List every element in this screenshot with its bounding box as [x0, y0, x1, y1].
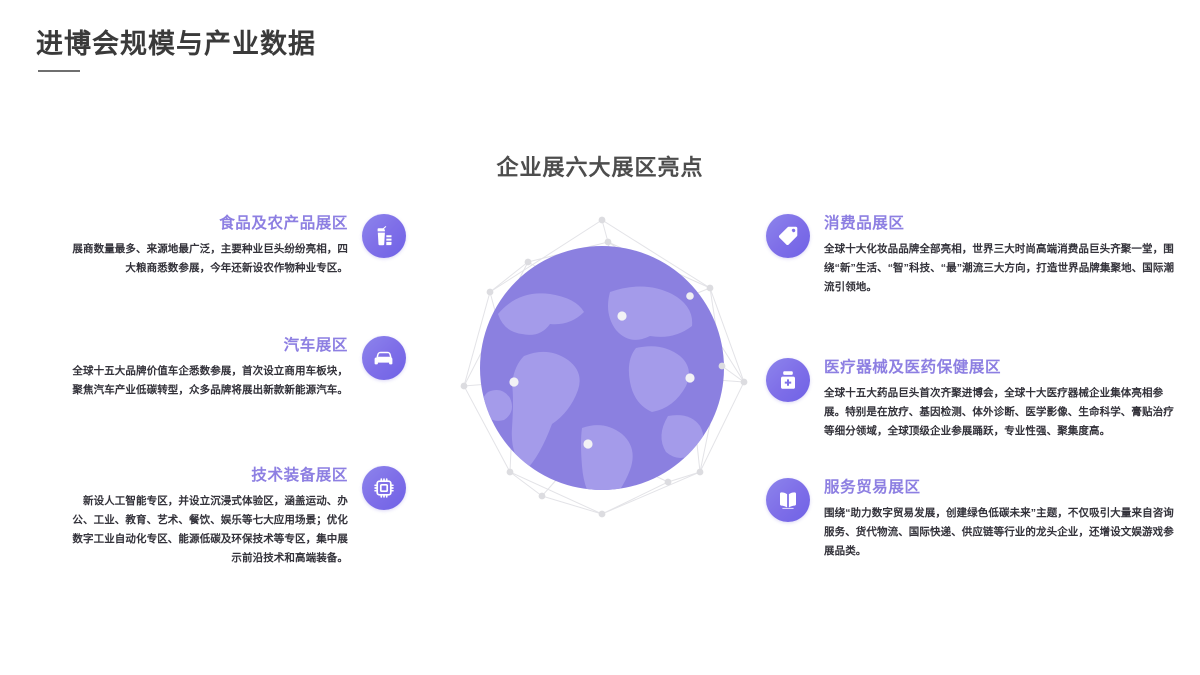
zone-card-title: 消费品展区 — [824, 214, 905, 234]
section-subtitle: 企业展六大展区亮点 — [0, 150, 1200, 182]
zone-card-body: 技术装备展区 新设人工智能专区，并设立沉浸式体验区，涵盖运动、办公、工业、教育、… — [70, 466, 348, 569]
medicine-bottle-icon[interactable] — [766, 358, 810, 402]
zone-card-title: 服务贸易展区 — [824, 478, 921, 498]
zone-card-text: 全球十五大品牌价值车企悉数参展，首次设立商用车板块，聚焦汽车产业低碳转型，众多品… — [70, 362, 348, 400]
zone-card-body: 服务贸易展区 围绕“助力数字贸易发展，创建绿色低碳未来”主题，不仅吸引大量来自咨… — [824, 478, 1178, 561]
title-underline — [38, 70, 80, 72]
zone-card-consumer[interactable]: 消费品展区 全球十大化妆品品牌全部亮相，世界三大时尚高端消费品巨头齐聚一堂，围绕… — [766, 214, 1178, 297]
zone-card-title: 医疗器械及医药保健展区 — [824, 358, 1001, 378]
zone-card-food[interactable]: 食品及农产品展区 展商数量最多、来源地最广泛，主要种业巨头纷纷亮相，四大粮商悉数… — [70, 214, 406, 278]
car-icon[interactable] — [362, 336, 406, 380]
zone-card-body: 汽车展区 全球十五大品牌价值车企悉数参展，首次设立商用车板块，聚焦汽车产业低碳转… — [70, 336, 348, 400]
zone-card-tech[interactable]: 技术装备展区 新设人工智能专区，并设立沉浸式体验区，涵盖运动、办公、工业、教育、… — [70, 466, 406, 569]
zone-card-text: 围绕“助力数字贸易发展，创建绿色低碳未来”主题，不仅吸引大量来自咨询服务、货代物… — [824, 504, 1178, 561]
zone-card-title: 汽车展区 — [284, 336, 348, 356]
zone-card-body: 消费品展区 全球十大化妆品品牌全部亮相，世界三大时尚高端消费品巨头齐聚一堂，围绕… — [824, 214, 1178, 297]
zone-card-text: 展商数量最多、来源地最广泛，主要种业巨头纷纷亮相，四大粮商悉数参展，今年还新设农… — [70, 240, 348, 278]
cpu-chip-icon[interactable] — [362, 466, 406, 510]
zone-card-body: 食品及农产品展区 展商数量最多、来源地最广泛，主要种业巨头纷纷亮相，四大粮商悉数… — [70, 214, 348, 278]
zone-card-auto[interactable]: 汽车展区 全球十五大品牌价值车企悉数参展，首次设立商用车板块，聚焦汽车产业低碳转… — [70, 336, 406, 400]
zone-card-title: 食品及农产品展区 — [219, 214, 348, 234]
zone-card-text: 新设人工智能专区，并设立沉浸式体验区，涵盖运动、办公、工业、教育、艺术、餐饮、娱… — [70, 492, 348, 568]
zone-card-body: 医疗器械及医药保健展区 全球十五大药品巨头首次齐聚进博会，全球十大医疗器械企业集… — [824, 358, 1184, 441]
globe-network-illustration — [432, 196, 772, 536]
zone-card-service[interactable]: 服务贸易展区 围绕“助力数字贸易发展，创建绿色低碳未来”主题，不仅吸引大量来自咨… — [766, 478, 1178, 561]
price-tag-icon[interactable] — [766, 214, 810, 258]
drink-food-icon[interactable] — [362, 214, 406, 258]
slide-canvas: 进博会规模与产业数据 企业展六大展区亮点 — [0, 0, 1200, 675]
zone-card-text: 全球十大化妆品品牌全部亮相，世界三大时尚高端消费品巨头齐聚一堂，围绕“新”生活、… — [824, 240, 1178, 297]
page-title: 进博会规模与产业数据 — [36, 22, 316, 61]
zone-card-medical[interactable]: 医疗器械及医药保健展区 全球十五大药品巨头首次齐聚进博会，全球十大医疗器械企业集… — [766, 358, 1184, 441]
open-book-icon[interactable] — [766, 478, 810, 522]
zone-card-text: 全球十五大药品巨头首次齐聚进博会，全球十大医疗器械企业集体亮相参展。特别是在放疗… — [824, 384, 1184, 441]
zone-card-title: 技术装备展区 — [251, 466, 348, 486]
